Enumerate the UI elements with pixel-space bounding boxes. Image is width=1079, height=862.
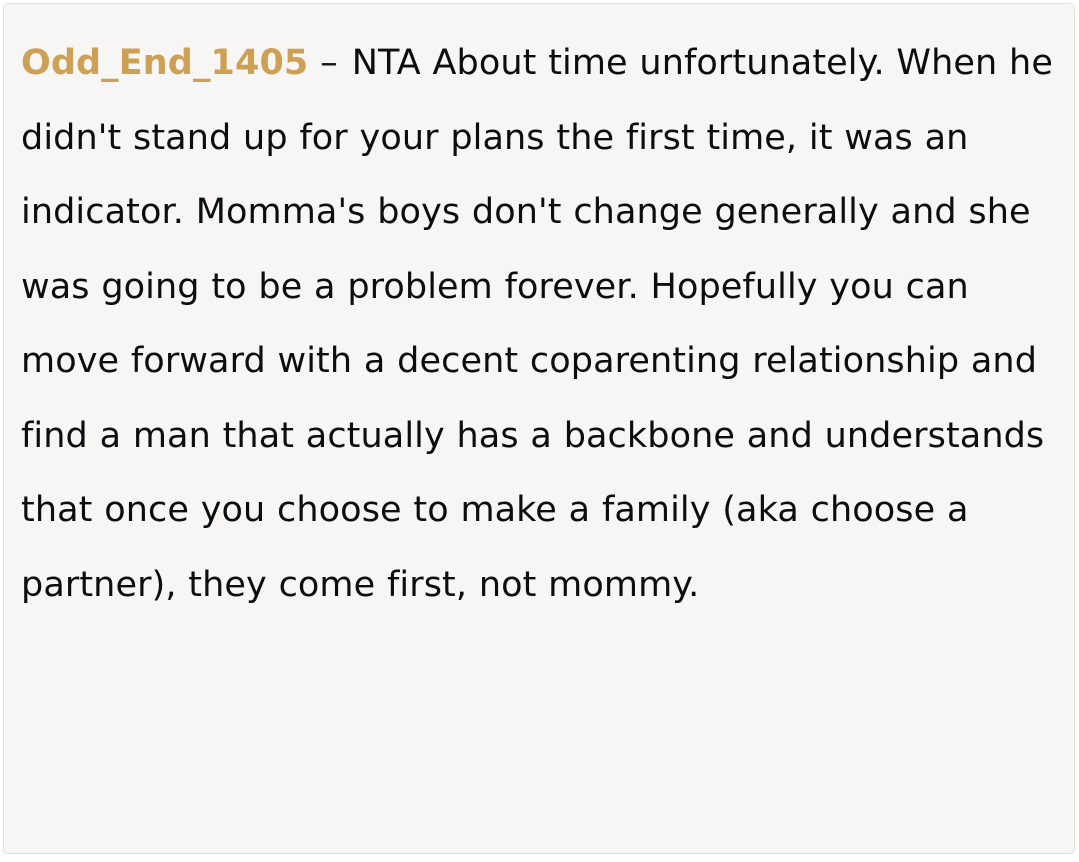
comment-body-text: NTA About time unfortunately. When he di… (21, 43, 1053, 605)
comment-author-separator: – (320, 43, 338, 83)
comment-author-username[interactable]: Odd_End_1405 (21, 43, 308, 83)
comment-text-block: Odd_End_1405 –NTA About time unfortunate… (21, 26, 1060, 622)
comment-card: Odd_End_1405 –NTA About time unfortunate… (3, 3, 1075, 854)
